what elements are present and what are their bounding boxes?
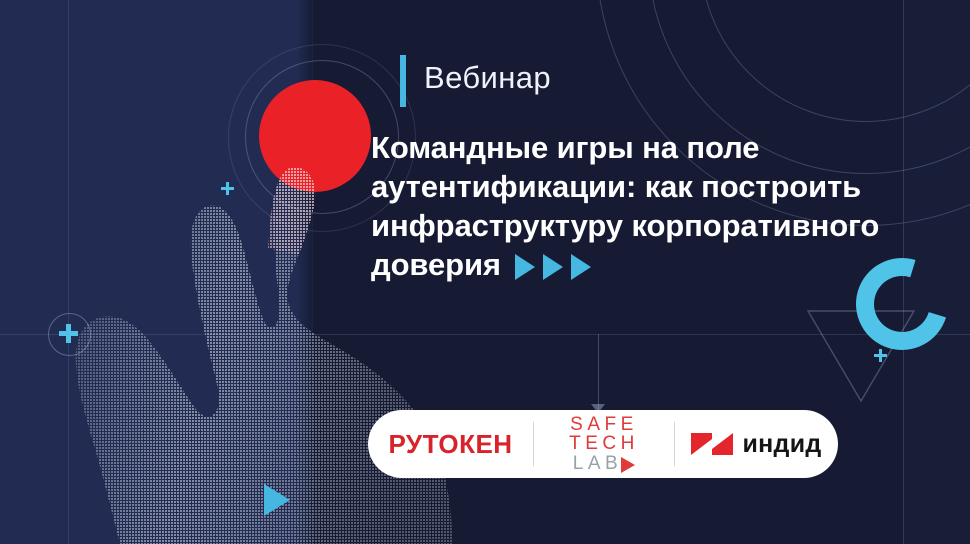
logo-indid-text: индид: [742, 430, 821, 459]
headline-line-3: инфраструктуру корпоративного: [371, 206, 911, 245]
logo-safe-tech-lab: SAFE TECH LAB: [534, 410, 674, 478]
plus-marker-large-icon: [59, 324, 78, 343]
logo-safe-tech-lab-line3: LAB: [573, 454, 622, 473]
headline-line-2: аутентификации: как построить: [371, 167, 911, 206]
logo-rutoken: РУТОКЕН: [368, 410, 533, 478]
headline-line-4-wrap: доверия: [371, 245, 911, 284]
logo-safe-tech-lab-arrow-icon: [621, 457, 635, 473]
logo-indid-mark-icon: [691, 429, 733, 459]
eyebrow-accent-bar: [400, 55, 406, 107]
logo-safe-tech-lab-line1: SAFE: [570, 415, 638, 434]
plus-marker-small-right-icon: [874, 349, 887, 362]
triple-chevron-icon: [515, 254, 591, 280]
webinar-title-slide: Вебинар Командные игры на поле аутентифи…: [0, 0, 970, 544]
red-circle-icon: [259, 80, 371, 192]
play-triangle-icon: [264, 484, 290, 516]
logo-indid: индид: [675, 410, 838, 478]
page-title: Командные игры на поле аутентификации: к…: [371, 128, 911, 284]
eyebrow-label: Вебинар: [424, 60, 551, 96]
headline-line-1: Командные игры на поле: [371, 128, 911, 167]
logo-safe-tech-lab-line2: TECH: [569, 434, 639, 453]
logo-rutoken-text: РУТОКЕН: [388, 429, 512, 460]
guide-line-vertical-left: [68, 0, 69, 544]
partner-logo-bar: РУТОКЕН SAFE TECH LAB индид: [368, 410, 838, 478]
guide-line-vertical-center: [598, 334, 599, 410]
plus-marker-small-left-icon: [221, 182, 234, 195]
headline-line-4: доверия: [371, 247, 501, 282]
